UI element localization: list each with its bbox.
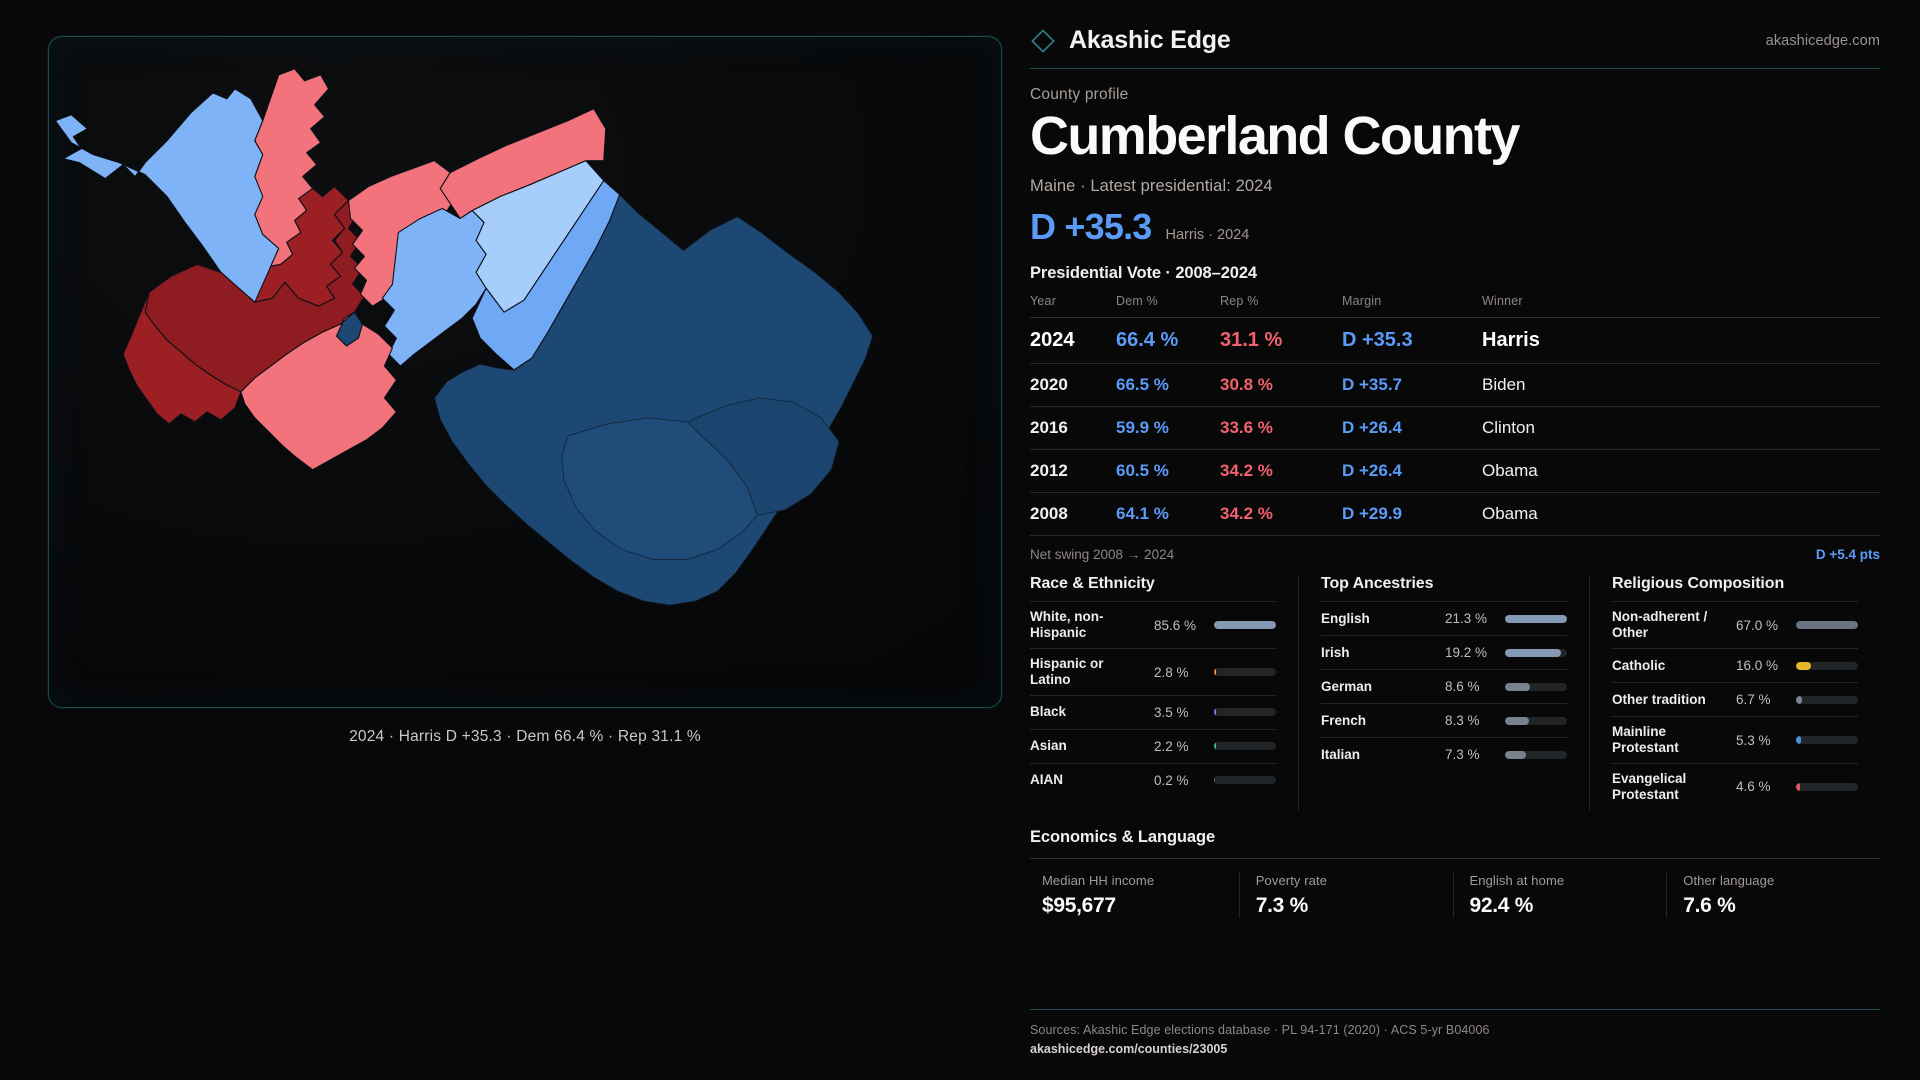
page-kicker: County profile <box>1030 86 1880 104</box>
economics-grid: Median HH income$95,677Poverty rate7.3 %… <box>1030 858 1880 918</box>
cell-winner: Obama <box>1482 493 1880 536</box>
cell-margin: D +35.7 <box>1342 364 1482 407</box>
map-column: 2024 · Harris D +35.3 · Dem 66.4 % · Rep… <box>0 0 1030 1080</box>
demo-row-label: German <box>1321 679 1437 695</box>
footer: Sources: Akashic Edge elections database… <box>1030 1009 1880 1056</box>
demo-row-bar-fill <box>1796 662 1811 670</box>
demo-column-heading: Top Ancestries <box>1321 575 1567 593</box>
demo-row-pct: 4.6 % <box>1736 779 1788 794</box>
demo-row-bar-track <box>1214 668 1276 676</box>
county-profile-page: 2024 · Harris D +35.3 · Dem 66.4 % · Rep… <box>0 0 1920 1080</box>
demo-row[interactable]: White, non-Hispanic85.6 % <box>1030 601 1276 648</box>
cell-rep: 30.8 % <box>1220 364 1342 407</box>
demo-row-pct: 3.5 % <box>1154 705 1206 720</box>
demo-row-bar-fill <box>1796 621 1858 629</box>
demo-row-bar-fill <box>1214 776 1215 784</box>
demo-row-label: Asian <box>1030 738 1146 754</box>
col-winner: Winner <box>1482 294 1880 318</box>
col-margin: Margin <box>1342 294 1482 318</box>
demo-row-pct: 85.6 % <box>1154 618 1206 633</box>
cell-dem: 64.1 % <box>1116 493 1220 536</box>
demo-row-bar-track <box>1796 696 1858 704</box>
economics-value: $95,677 <box>1042 894 1223 918</box>
demo-row-bar-fill <box>1505 615 1567 623</box>
cell-rep: 34.2 % <box>1220 450 1342 493</box>
demo-row-label: White, non-Hispanic <box>1030 609 1146 641</box>
demo-column-3: Religious CompositionNon-adherent / Othe… <box>1589 575 1880 810</box>
demo-row-bar-track <box>1796 621 1858 629</box>
demographics-columns: Race & EthnicityWhite, non-Hispanic85.6 … <box>1030 575 1880 810</box>
demo-column-2: Top AncestriesEnglish21.3 %Irish19.2 %Ge… <box>1298 575 1589 810</box>
table-row[interactable]: 202066.5 %30.8 %D +35.7Biden <box>1030 364 1880 407</box>
economics-value: 92.4 % <box>1470 894 1651 918</box>
brand-name: Akashic Edge <box>1069 26 1231 55</box>
demo-row-pct: 2.2 % <box>1154 739 1206 754</box>
economics-value: 7.3 % <box>1256 894 1437 918</box>
cell-winner: Biden <box>1482 364 1880 407</box>
demo-row-bar-fill <box>1505 683 1530 691</box>
table-row[interactable]: 200864.1 %34.2 %D +29.9Obama <box>1030 493 1880 536</box>
demo-row-pct: 8.6 % <box>1445 679 1497 694</box>
demo-row-bar-fill <box>1796 783 1800 791</box>
demo-row[interactable]: Irish19.2 % <box>1321 635 1567 669</box>
net-swing-label: Net swing 2008 → 2024 <box>1030 547 1174 562</box>
demo-row[interactable]: AIAN0.2 % <box>1030 763 1276 797</box>
demo-row[interactable]: Hispanic or Latino2.8 % <box>1030 648 1276 695</box>
cell-rep: 31.1 % <box>1220 318 1342 364</box>
economics-cell: Other language7.6 % <box>1666 873 1880 918</box>
map-svg[interactable] <box>49 37 1001 707</box>
county-precinct-map[interactable] <box>48 36 1002 708</box>
cell-margin: D +26.4 <box>1342 407 1482 450</box>
demo-row-bar-track <box>1214 708 1276 716</box>
cell-winner: Clinton <box>1482 407 1880 450</box>
map-caption: 2024 · Harris D +35.3 · Dem 66.4 % · Rep… <box>48 728 1002 746</box>
col-dem: Dem % <box>1116 294 1220 318</box>
demo-row-bar-fill <box>1214 621 1276 629</box>
cell-margin: D +29.9 <box>1342 493 1482 536</box>
demo-row-label: Non-adherent / Other <box>1612 609 1728 641</box>
votes-table-body: 202466.4 %31.1 %D +35.3Harris202066.5 %3… <box>1030 318 1880 536</box>
demo-row[interactable]: Non-adherent / Other67.0 % <box>1612 601 1858 648</box>
net-swing-row: Net swing 2008 → 2024 D +5.4 pts <box>1030 535 1880 562</box>
demo-row-bar-track <box>1505 615 1567 623</box>
cell-dem: 66.5 % <box>1116 364 1220 407</box>
demo-row-label: English <box>1321 611 1437 627</box>
economics-section-title: Economics & Language <box>1030 828 1880 847</box>
cell-rep: 34.2 % <box>1220 493 1342 536</box>
demo-row-bar-track <box>1505 683 1567 691</box>
demo-row-pct: 0.2 % <box>1154 773 1206 788</box>
diamond-outline-icon <box>1030 28 1056 54</box>
demo-row-bar-track <box>1505 649 1567 657</box>
demo-row-pct: 6.7 % <box>1736 692 1788 707</box>
brand: Akashic Edge <box>1030 26 1231 55</box>
demo-row-bar-track <box>1214 621 1276 629</box>
cell-dem: 59.9 % <box>1116 407 1220 450</box>
demo-row-pct: 19.2 % <box>1445 645 1497 660</box>
footer-sources: Sources: Akashic Edge elections database… <box>1030 1023 1880 1037</box>
net-swing-value: D +5.4 pts <box>1816 547 1880 562</box>
demo-row-label: AIAN <box>1030 772 1146 788</box>
demo-row-pct: 7.3 % <box>1445 747 1497 762</box>
demo-row[interactable]: German8.6 % <box>1321 669 1567 703</box>
votes-section-title: Presidential Vote · 2008–2024 <box>1030 264 1880 283</box>
page-title: Cumberland County <box>1030 108 1880 165</box>
economics-label: Other language <box>1683 873 1864 888</box>
headline-margin: D +35.3 Harris · 2024 <box>1030 206 1880 248</box>
demo-row-pct: 8.3 % <box>1445 713 1497 728</box>
demo-row-bar-track <box>1796 736 1858 744</box>
cell-winner: Obama <box>1482 450 1880 493</box>
demo-row-bar-fill <box>1796 696 1802 704</box>
demo-row-label: Mainline Protestant <box>1612 724 1728 756</box>
cell-year: 2024 <box>1030 318 1116 364</box>
economics-value: 7.6 % <box>1683 894 1864 918</box>
economics-label: Poverty rate <box>1256 873 1437 888</box>
headline-margin-note: Harris · 2024 <box>1166 227 1250 243</box>
demo-row-label: Other tradition <box>1612 692 1728 708</box>
headline-margin-value: D +35.3 <box>1030 206 1152 248</box>
demo-row[interactable]: English21.3 % <box>1321 601 1567 635</box>
demo-row[interactable]: Evangelical Protestant4.6 % <box>1612 763 1858 810</box>
cell-dem: 60.5 % <box>1116 450 1220 493</box>
cell-margin: D +26.4 <box>1342 450 1482 493</box>
demo-row-pct: 5.3 % <box>1736 733 1788 748</box>
cell-year: 2020 <box>1030 364 1116 407</box>
demo-row-label: Italian <box>1321 747 1437 763</box>
demo-column-1: Race & EthnicityWhite, non-Hispanic85.6 … <box>1030 575 1298 810</box>
demo-row-bar-track <box>1796 783 1858 791</box>
demo-column-heading: Religious Composition <box>1612 575 1858 593</box>
demo-row[interactable]: Black3.5 % <box>1030 695 1276 729</box>
presidential-vote-table: Year Dem % Rep % Margin Winner 202466.4 … <box>1030 294 1880 535</box>
demo-row-bar-track <box>1214 776 1276 784</box>
demo-row-label: French <box>1321 713 1437 729</box>
brand-bar: Akashic Edge akashicedge.com <box>1030 26 1880 69</box>
demo-row-bar-fill <box>1505 751 1526 759</box>
demo-row-bar-fill <box>1505 649 1561 657</box>
demo-row-bar-fill <box>1505 717 1529 725</box>
economics-label: Median HH income <box>1042 873 1223 888</box>
cell-year: 2016 <box>1030 407 1116 450</box>
table-header-row: Year Dem % Rep % Margin Winner <box>1030 294 1880 318</box>
map-region-nw-lightblue[interactable] <box>55 89 284 302</box>
demo-row-pct: 2.8 % <box>1154 665 1206 680</box>
cell-year: 2008 <box>1030 493 1116 536</box>
state-and-latest-line: Maine · Latest presidential: 2024 <box>1030 177 1880 196</box>
demo-row[interactable]: Catholic16.0 % <box>1612 648 1858 682</box>
table-row[interactable]: 202466.4 %31.1 %D +35.3Harris <box>1030 318 1880 364</box>
col-year: Year <box>1030 294 1116 318</box>
demo-row-bar-track <box>1796 662 1858 670</box>
report-column: Akashic Edge akashicedge.com County prof… <box>1030 0 1920 1080</box>
demo-column-heading: Race & Ethnicity <box>1030 575 1276 593</box>
economics-cell: Median HH income$95,677 <box>1030 873 1239 918</box>
demo-row-label: Catholic <box>1612 658 1728 674</box>
demo-row-bar-track <box>1505 717 1567 725</box>
brand-url[interactable]: akashicedge.com <box>1766 33 1880 49</box>
cell-year: 2012 <box>1030 450 1116 493</box>
demo-row[interactable]: French8.3 % <box>1321 703 1567 737</box>
demo-row[interactable]: Italian7.3 % <box>1321 737 1567 771</box>
cell-rep: 33.6 % <box>1220 407 1342 450</box>
economics-label: English at home <box>1470 873 1651 888</box>
economics-cell: English at home92.4 % <box>1453 873 1667 918</box>
demo-row-pct: 67.0 % <box>1736 618 1788 633</box>
demo-row-label: Irish <box>1321 645 1437 661</box>
table-row[interactable]: 201260.5 %34.2 %D +26.4Obama <box>1030 450 1880 493</box>
demo-row-label: Black <box>1030 704 1146 720</box>
cell-margin: D +35.3 <box>1342 318 1482 364</box>
cell-winner: Harris <box>1482 318 1880 364</box>
demo-row-bar-fill <box>1214 708 1216 716</box>
economics-cell: Poverty rate7.3 % <box>1239 873 1453 918</box>
demo-row[interactable]: Mainline Protestant5.3 % <box>1612 716 1858 763</box>
demo-row-label: Hispanic or Latino <box>1030 656 1146 688</box>
demo-row-pct: 16.0 % <box>1736 658 1788 673</box>
demo-row-bar-fill <box>1214 668 1216 676</box>
demo-row-bar-fill <box>1214 742 1216 750</box>
demo-row[interactable]: Other tradition6.7 % <box>1612 682 1858 716</box>
demo-row-bar-fill <box>1796 736 1801 744</box>
demo-row-pct: 21.3 % <box>1445 611 1497 626</box>
col-rep: Rep % <box>1220 294 1342 318</box>
demo-row-label: Evangelical Protestant <box>1612 771 1728 803</box>
footer-link[interactable]: akashicedge.com/counties/23005 <box>1030 1042 1880 1056</box>
demo-row-bar-track <box>1214 742 1276 750</box>
cell-dem: 66.4 % <box>1116 318 1220 364</box>
demo-row[interactable]: Asian2.2 % <box>1030 729 1276 763</box>
map-region-windham-lightblue[interactable] <box>382 208 486 366</box>
table-row[interactable]: 201659.9 %33.6 %D +26.4Clinton <box>1030 407 1880 450</box>
demo-row-bar-track <box>1505 751 1567 759</box>
